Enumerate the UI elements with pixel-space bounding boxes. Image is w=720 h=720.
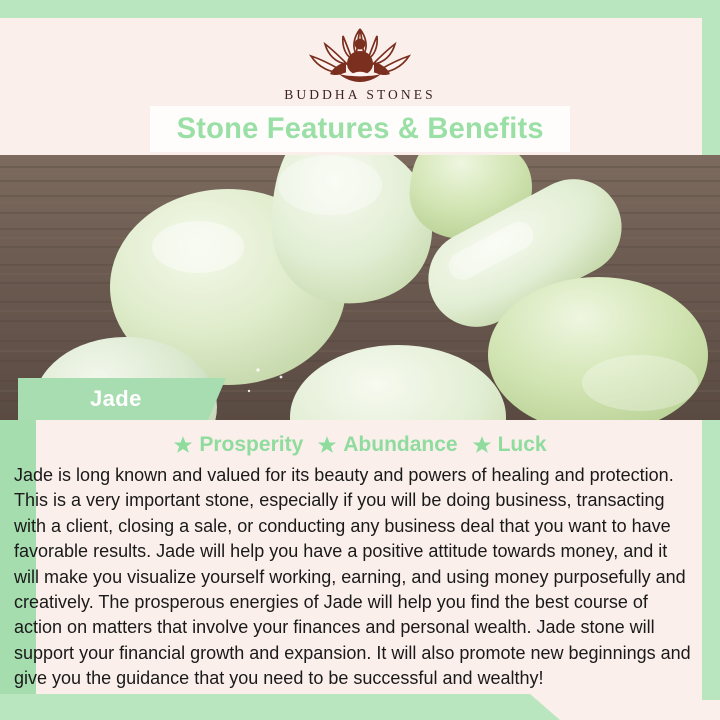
lotus-meditation-icon [294, 24, 426, 86]
poster: BUDDHA STONES Stone Features & Benefits [0, 0, 720, 720]
star-icon [472, 435, 492, 455]
benefit-item-luck: Luck [472, 433, 547, 457]
benefit-label: Luck [498, 433, 547, 457]
benefit-item-prosperity: Prosperity [173, 433, 303, 457]
brand-logo: BUDDHA STONES [0, 18, 720, 108]
stone-description: Jade is long known and valued for its be… [14, 462, 696, 691]
brand-name: BUDDHA STONES [284, 87, 435, 103]
title-banner: Stone Features & Benefits [150, 106, 570, 152]
decor-bottom-bar [0, 694, 560, 720]
stone-name: Jade [90, 386, 142, 412]
star-icon [317, 435, 337, 455]
benefit-label: Abundance [343, 433, 457, 457]
benefit-label: Prosperity [199, 433, 303, 457]
decor-top-bar [0, 0, 720, 18]
star-icon [173, 435, 193, 455]
benefits-list: Prosperity Abundance Luck [0, 430, 720, 460]
benefit-item-abundance: Abundance [317, 433, 457, 457]
page-title: Stone Features & Benefits [176, 112, 543, 146]
stone-name-banner: Jade [18, 378, 226, 420]
